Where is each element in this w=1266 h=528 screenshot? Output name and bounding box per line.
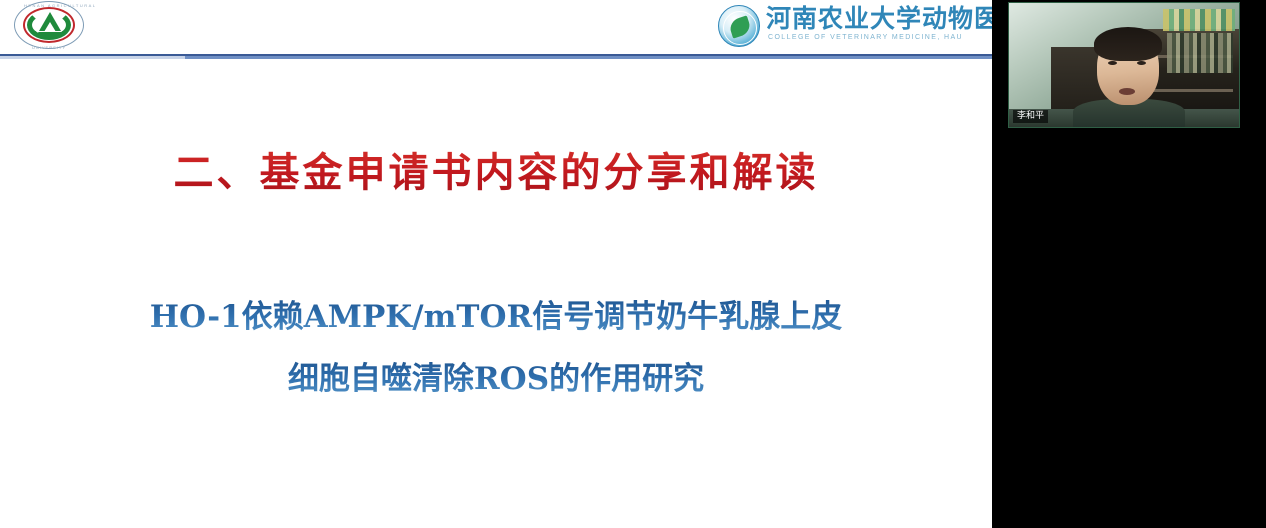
- college-badge-icon: [718, 5, 760, 47]
- participant-video-tile[interactable]: 李和平: [1008, 2, 1240, 128]
- emblem-arc-top-text: HENAN AGRICULTURAL: [24, 3, 74, 8]
- video-background-books: [1167, 33, 1233, 73]
- participant-eye-right: [1137, 61, 1146, 65]
- header-divider-thick: [185, 56, 992, 59]
- slide-subtitle-line-1: HO-1依赖AMPK/mTOR信号调节奶牛乳腺上皮: [0, 286, 992, 348]
- university-emblem-icon: HENAN AGRICULTURAL UNIVERSITY: [14, 1, 86, 51]
- presentation-slide: HENAN AGRICULTURAL UNIVERSITY 河南农业大学动物医学…: [0, 0, 992, 528]
- participant-eye-left: [1108, 61, 1117, 65]
- participant-mouth: [1119, 88, 1135, 95]
- slide-header: HENAN AGRICULTURAL UNIVERSITY 河南农业大学动物医学…: [0, 0, 992, 58]
- college-name-chinese: 河南农业大学动物医学院: [766, 5, 992, 33]
- emblem-arc-bottom-text: UNIVERSITY: [24, 45, 74, 50]
- college-logo: 河南农业大学动物医学院 COLLEGE OF VETERINARY MEDICI…: [718, 3, 976, 51]
- college-name-english: COLLEGE OF VETERINARY MEDICINE, HAU: [768, 34, 963, 41]
- slide-subtitle: HO-1依赖AMPK/mTOR信号调节奶牛乳腺上皮 细胞自噬清除ROS的作用研究: [0, 286, 992, 410]
- video-background-bottles: [1163, 9, 1235, 31]
- participant-name-label: 李和平: [1013, 110, 1048, 123]
- emblem-base-bar: [38, 32, 62, 36]
- screen-share-view: HENAN AGRICULTURAL UNIVERSITY 河南农业大学动物医学…: [0, 0, 1266, 528]
- slide-subtitle-line-2: 细胞自噬清除ROS的作用研究: [0, 348, 992, 410]
- video-participant-panel: 李和平: [992, 0, 1266, 528]
- slide-section-title: 二、基金申请书内容的分享和解读: [0, 140, 992, 198]
- emblem-peak-notch: [44, 22, 56, 32]
- participant-hair: [1094, 27, 1162, 61]
- video-shelf-row: [1149, 89, 1233, 92]
- header-divider-soft: [0, 56, 185, 59]
